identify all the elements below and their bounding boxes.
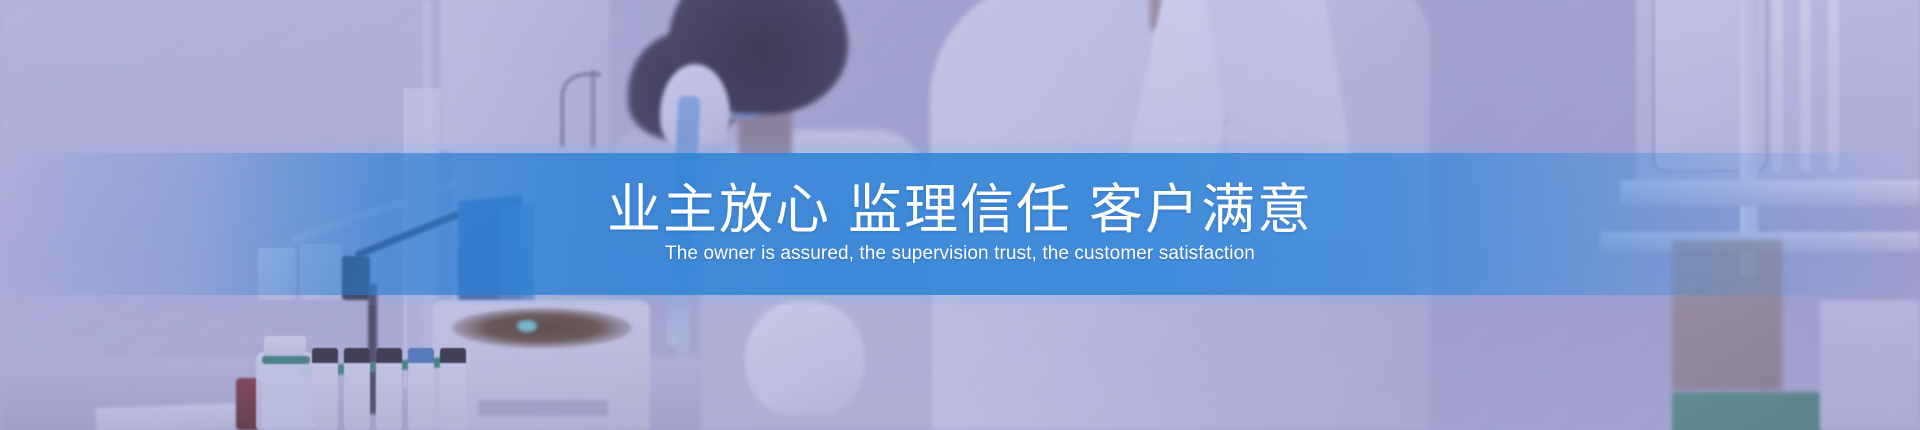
banner-headline: 业主放心 监理信任 客户满意 (607, 182, 1313, 239)
banner-text-block: 业主放心 监理信任 客户满意 The owner is assured, the… (0, 153, 1920, 295)
banner-subtitle: The owner is assured, the supervision tr… (665, 243, 1255, 266)
hero-banner: 业主放心 监理信任 客户满意 The owner is assured, the… (0, 0, 1920, 430)
